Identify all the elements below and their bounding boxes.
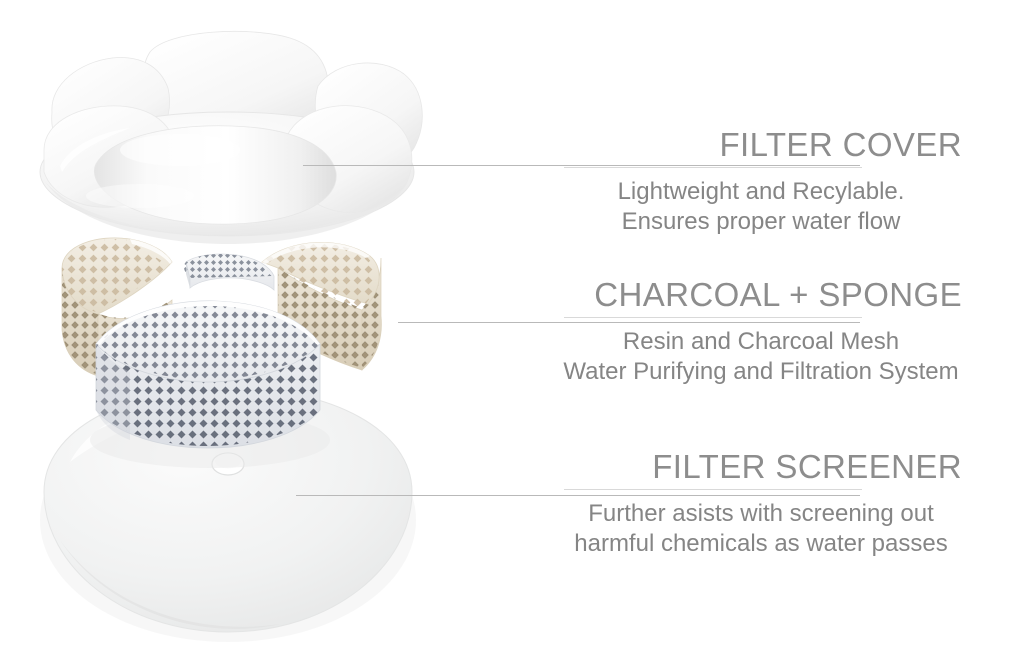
callout-heading-filter-screener: FILTER SCREENER bbox=[560, 449, 980, 485]
callout-filter-cover: FILTER COVER Lightweight and Recylable. … bbox=[560, 127, 980, 237]
callout-rule-charcoal-sponge bbox=[564, 317, 862, 318]
callout-body-line: Ensures proper water flow bbox=[560, 207, 962, 237]
callout-rule-filter-cover bbox=[564, 167, 862, 168]
diagram-page: FILTER COVER Lightweight and Recylable. … bbox=[0, 0, 1024, 668]
callout-body-line: Water Purifying and Filtration System bbox=[560, 357, 962, 387]
callout-body-line: Lightweight and Recylable. bbox=[560, 177, 962, 207]
callout-body-filter-cover: Lightweight and Recylable. Ensures prope… bbox=[560, 177, 980, 237]
product-illustration bbox=[0, 0, 520, 668]
callout-body-line: Further asists with screening out bbox=[560, 499, 962, 529]
part-filter-cover bbox=[40, 31, 422, 244]
charcoal-bridge bbox=[180, 248, 284, 291]
callout-body-filter-screener: Further asists with screening out harmfu… bbox=[560, 499, 980, 559]
callout-filter-screener: FILTER SCREENER Further asists with scre… bbox=[560, 449, 980, 559]
callout-charcoal-sponge: CHARCOAL + SPONGE Resin and Charcoal Mes… bbox=[560, 277, 980, 387]
callout-body-charcoal-sponge: Resin and Charcoal Mesh Water Purifying … bbox=[560, 327, 980, 387]
callout-heading-charcoal-sponge: CHARCOAL + SPONGE bbox=[560, 277, 980, 313]
callout-body-line: Resin and Charcoal Mesh bbox=[560, 327, 962, 357]
callout-heading-filter-cover: FILTER COVER bbox=[560, 127, 980, 163]
callout-rule-filter-screener bbox=[564, 489, 862, 490]
callout-body-line: harmful chemicals as water passes bbox=[560, 529, 962, 559]
